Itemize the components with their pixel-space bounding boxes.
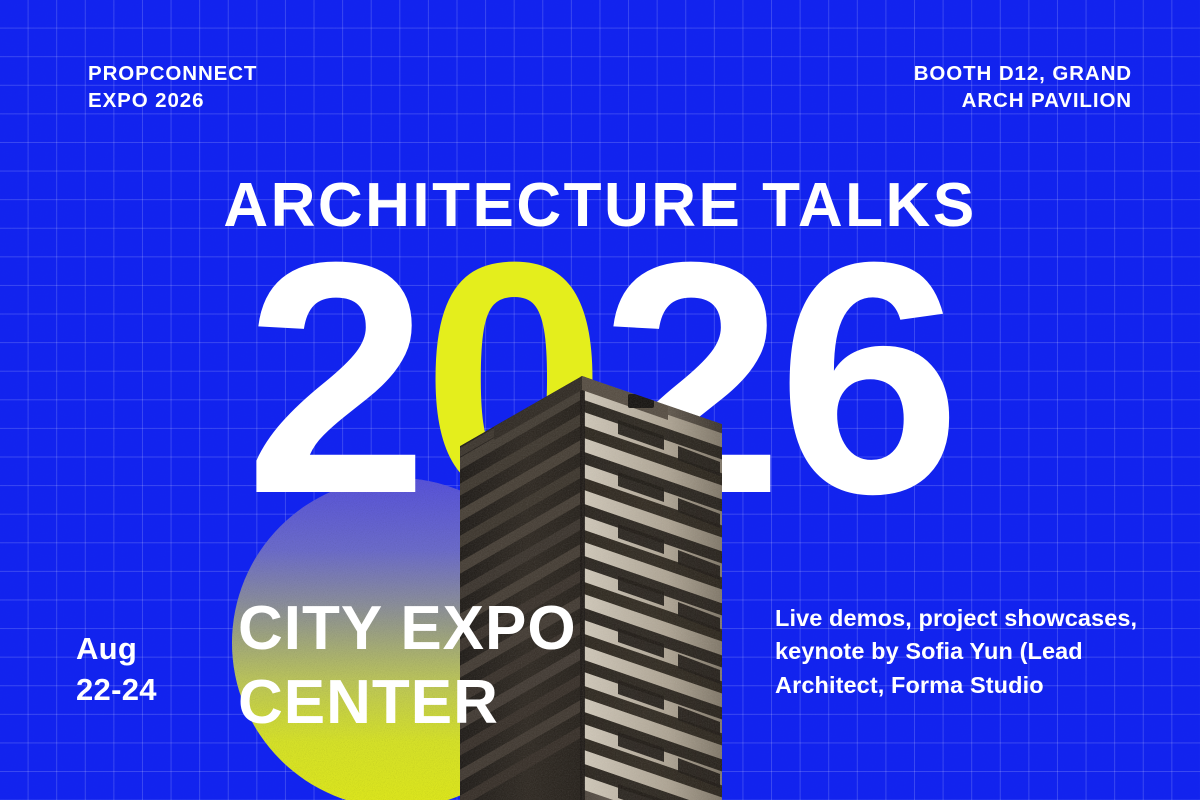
- year-digit-1: 2: [245, 193, 423, 562]
- booth-location-label: BOOTH D12, GRAND ARCH PAVILION: [914, 60, 1132, 114]
- poster-canvas: 2026: [0, 0, 1200, 800]
- event-description: Live demos, project showcases, keynote b…: [775, 602, 1175, 702]
- brand-event-label: PROPCONNECT EXPO 2026: [88, 60, 257, 114]
- year-digit-4: 6: [778, 193, 956, 562]
- event-date: Aug 22-24: [76, 628, 157, 710]
- page-title: ARCHITECTURE TALKS: [0, 170, 1200, 241]
- venue-name: CITY EXPO CENTER: [238, 592, 577, 741]
